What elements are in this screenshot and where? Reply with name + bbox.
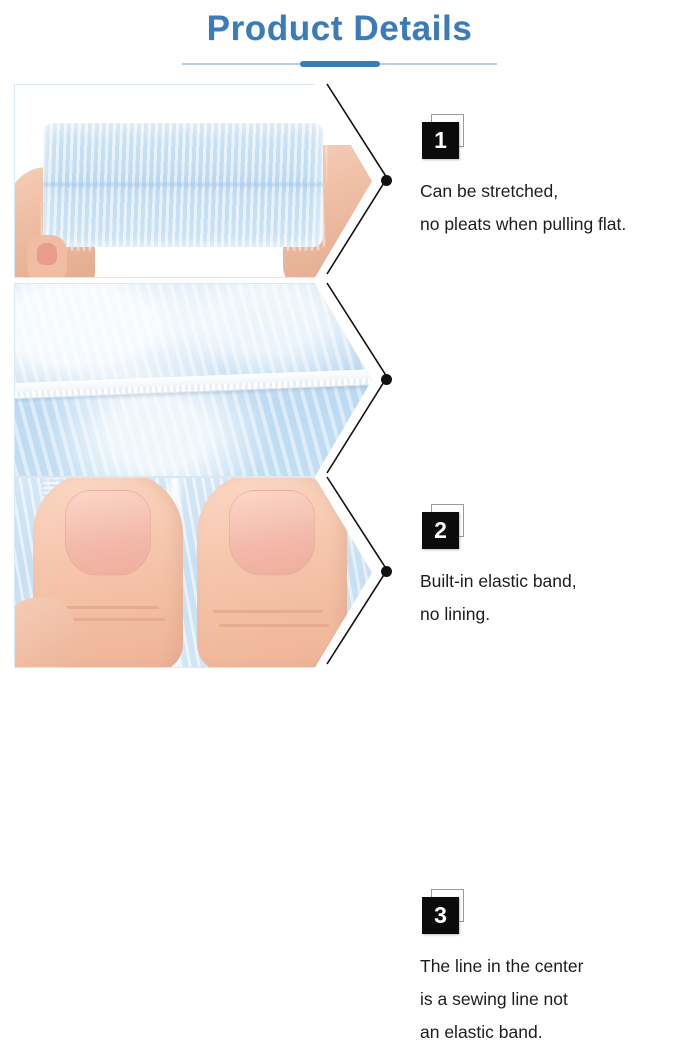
photo-chevron-clip-1 (14, 84, 372, 278)
photo-art-1 (15, 85, 372, 277)
detail-item-3: 3 The line in the center is a sewing lin… (420, 889, 670, 1049)
palm-edge-shape (14, 598, 75, 668)
divider-accent-bar (300, 61, 380, 67)
badge-number-3: 3 (422, 897, 459, 934)
knuckle-crease-right (213, 610, 323, 613)
chevron-apex-dot-2 (381, 374, 392, 385)
product-photo-1 (14, 84, 372, 278)
fingernail-left (65, 490, 151, 576)
step-badge-1: 1 (422, 114, 474, 164)
detail-row-3: 3 The line in the center is a sewing lin… (0, 477, 679, 668)
detail-row-1: 1 Can be stretched, no pleats when pulli… (0, 84, 679, 278)
page-title: Product Details (0, 9, 679, 49)
product-photo-3 (14, 477, 372, 668)
chevron-apex-dot-1 (381, 175, 392, 186)
header: Product Details (0, 0, 679, 80)
photo-frame-1 (14, 84, 372, 278)
detail-item-1: 1 Can be stretched, no pleats when pulli… (420, 114, 670, 241)
product-photo-2 (14, 283, 372, 477)
photo-frame-3 (14, 477, 372, 668)
product-details-infographic: Product Details (0, 0, 679, 679)
chevron-apex-dot-3 (381, 566, 392, 577)
photo-frame-2 (14, 283, 372, 477)
knuckle-crease-right-2 (219, 624, 329, 627)
title-divider (182, 60, 497, 68)
detail-caption-3: The line in the center is a sewing line … (420, 950, 670, 1049)
step-badge-3: 3 (422, 889, 474, 939)
detail-caption-1: Can be stretched, no pleats when pulling… (420, 175, 670, 241)
photo-chevron-clip-2 (14, 283, 372, 477)
photo-chevron-clip-3 (14, 477, 372, 668)
detail-row-2: 2 Built-in elastic band, no lining. (0, 283, 679, 477)
photo-art-3 (15, 478, 372, 667)
badge-number-1: 1 (422, 122, 459, 159)
fingernail-right (229, 490, 315, 576)
photo-art-2 (15, 284, 372, 476)
left-thumb-nail (37, 243, 57, 265)
headband-shape (43, 123, 323, 247)
